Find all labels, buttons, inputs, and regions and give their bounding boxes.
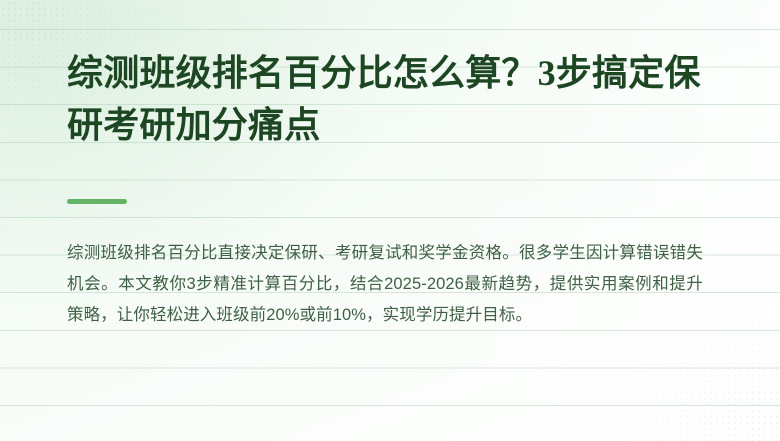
article-summary: 综测班级排名百分比直接决定保研、考研复试和奖学金资格。很多学生因计算错误错失机会… bbox=[67, 238, 703, 331]
article-hero-card: 综测班级排名百分比怎么算？3步搞定保研考研加分痛点 综测班级排名百分比直接决定保… bbox=[0, 0, 780, 441]
card-content: 综测班级排名百分比怎么算？3步搞定保研考研加分痛点 综测班级排名百分比直接决定保… bbox=[67, 0, 713, 441]
page-title: 综测班级排名百分比怎么算？3步搞定保研考研加分痛点 bbox=[67, 47, 705, 151]
title-divider bbox=[67, 199, 127, 204]
